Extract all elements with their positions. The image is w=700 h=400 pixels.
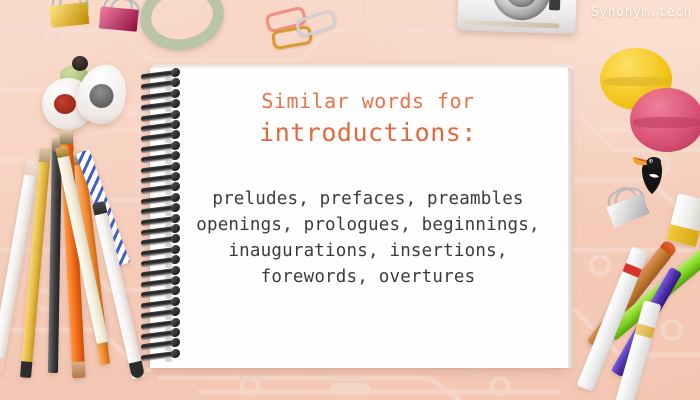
spiral-coil [141, 111, 178, 121]
pencil-tip [60, 130, 74, 145]
camera [457, 0, 577, 34]
pencil-ferrule [20, 361, 32, 378]
synonym-list: preludes, prefaces, preamblesopenings, p… [178, 186, 558, 290]
notebook-sheet-edge [568, 71, 573, 368]
eraser-red-core [54, 94, 76, 114]
bird-head [72, 56, 88, 71]
marker-band [635, 323, 655, 339]
spiral-coil [141, 143, 178, 153]
clip-body [49, 2, 89, 28]
spiral-coil [141, 319, 178, 329]
card-text-block: Similar words for introductions: prelude… [178, 86, 558, 290]
spiral-binding [141, 72, 181, 367]
pencil-tip [39, 148, 51, 163]
binder-clip-yellow [45, 0, 92, 28]
headword: introductions: [178, 116, 558, 150]
spiral-coil [141, 299, 178, 309]
spiral-coil [141, 132, 178, 142]
synonym-line: preludes, prefaces, preambles [178, 186, 558, 212]
clip-body [99, 6, 139, 31]
spiral-coil [141, 288, 178, 298]
synonym-line: openings, prologues, beginnings, [178, 212, 558, 238]
macaron-filling [603, 77, 669, 87]
binder-clip-pink [95, 0, 141, 32]
spiral-hole [165, 358, 172, 362]
spiral-coil [141, 267, 178, 277]
spiral-coil [141, 340, 178, 350]
synonym-line: forewords, overtures [178, 264, 558, 290]
spiral-coil [141, 153, 178, 163]
spiral-coil [141, 205, 178, 215]
spiral-coil [141, 101, 178, 111]
camera-lens-icon [492, 0, 552, 21]
spiral-coil [141, 236, 178, 246]
camera-lens-inner [505, 0, 538, 8]
synonym-line: inaugurations, insertions, [178, 238, 558, 264]
pencil-ferrule [72, 362, 86, 379]
spiral-coil [141, 91, 178, 101]
pen-tip [92, 201, 107, 216]
eraser-gray-core [87, 81, 116, 110]
camera-grip-strip [463, 20, 559, 28]
spiral-coil [141, 257, 178, 267]
spiral-coil [141, 163, 178, 173]
macaron-filling [633, 117, 700, 127]
macaron-pink [630, 88, 700, 152]
watermark-logo: Synonym.tech [591, 5, 692, 20]
spiral-coil [141, 247, 178, 257]
kicker-line: Similar words for [178, 86, 558, 116]
spiral-coil [141, 351, 178, 361]
screenshot-root: Synonym.tech [0, 0, 700, 400]
notebook-top-edge [153, 64, 573, 68]
spiral-coil [141, 195, 178, 205]
camera-shutter-button [549, 0, 560, 11]
spiral-coil [141, 184, 178, 194]
spiral-coil [141, 80, 178, 90]
marker-band [623, 263, 642, 278]
spiral-coil [141, 309, 178, 319]
pen-tip [55, 146, 69, 158]
spiral-coil [141, 215, 178, 225]
